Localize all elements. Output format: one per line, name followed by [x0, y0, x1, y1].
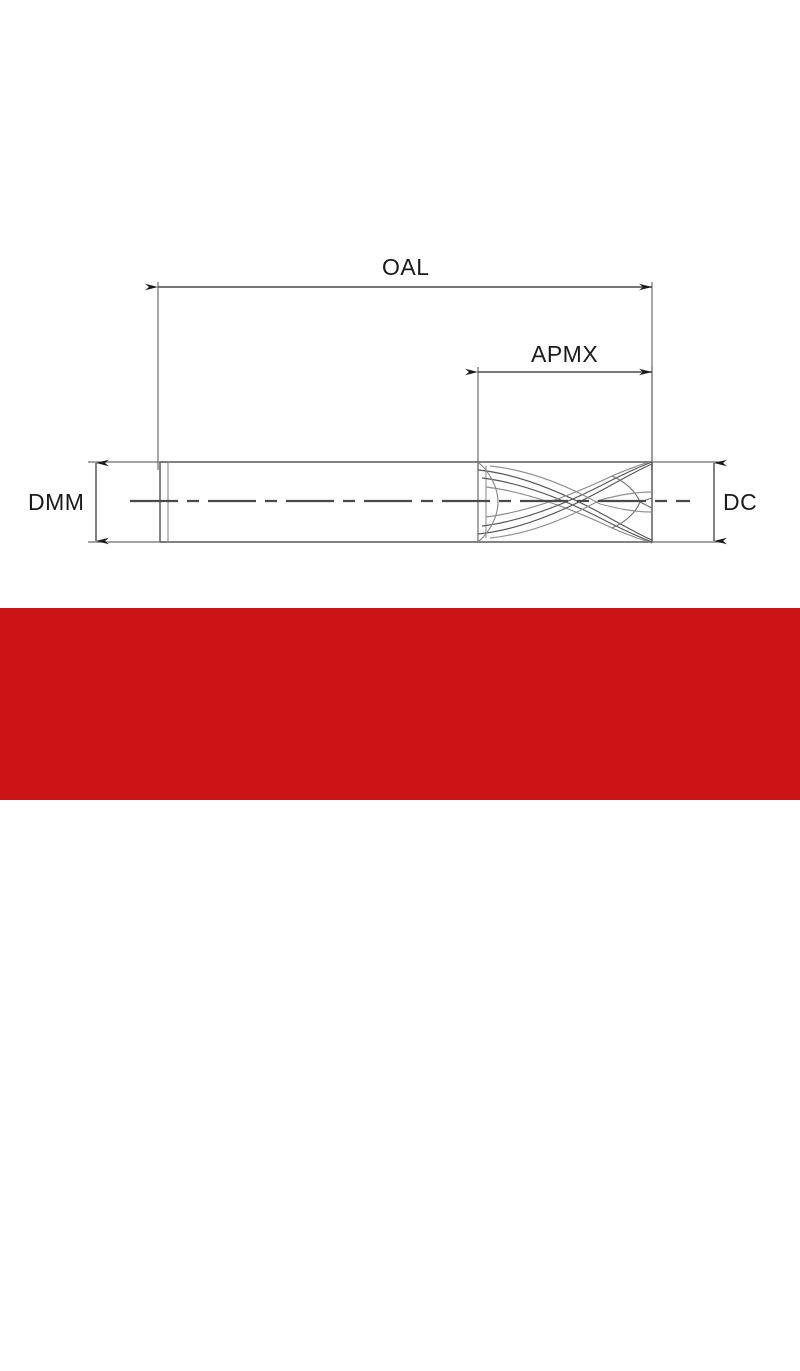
legend-entry-apmx: APMX = Flute Length — [12, 1348, 208, 1371]
legend-abbr-dmm: DMM — [272, 1283, 320, 1305]
end-mill-drawing-svg — [0, 0, 800, 608]
legend-sep-dc: = — [51, 1283, 74, 1305]
dimension-oal — [158, 282, 652, 470]
dimension-label-oal: OAL — [382, 254, 430, 281]
flute-land-bottom — [490, 500, 600, 538]
legend-abbr-dc: DC — [22, 1283, 51, 1305]
dimension-apmx — [478, 367, 652, 470]
legend-entry-dmm: DMM = Shank Diameter — [272, 1283, 490, 1306]
technical-drawing-area: OAL APMX DMM DC — [0, 0, 800, 608]
legend-entry-oal: OAL = Overall Length — [12, 1316, 211, 1339]
legend-title: Legend: — [46, 1221, 173, 1258]
legend-abbr-oal: OAL — [12, 1316, 55, 1338]
tip-center-edge-lower — [640, 502, 652, 508]
legend-meaning-apmx: Flute Length — [94, 1348, 208, 1370]
tip-relief-line — [600, 504, 652, 512]
tip-relief-line-2 — [600, 492, 652, 500]
legend-meaning-oal: Overall Length — [78, 1316, 211, 1338]
legend-sep-apmx: = — [71, 1348, 94, 1370]
dimension-label-apmx: APMX — [531, 341, 598, 368]
legend-meaning-dc: Cutter Diameter — [75, 1283, 219, 1305]
legend-abbr-apmx: APMX — [12, 1348, 71, 1370]
legend-sep-dmm: = — [320, 1283, 343, 1305]
legend-panel: Legend: DC = Cutter Diameter DMM = Shank… — [0, 608, 800, 800]
legend-entry-dc: DC = Cutter Diameter — [22, 1283, 219, 1306]
flute-land-top — [490, 466, 600, 504]
dimension-label-dmm: DMM — [28, 489, 84, 516]
legend-meaning-dmm: Shank Diameter — [344, 1283, 490, 1305]
legend-sep-oal: = — [55, 1316, 78, 1338]
dimension-label-dc: DC — [723, 489, 757, 516]
